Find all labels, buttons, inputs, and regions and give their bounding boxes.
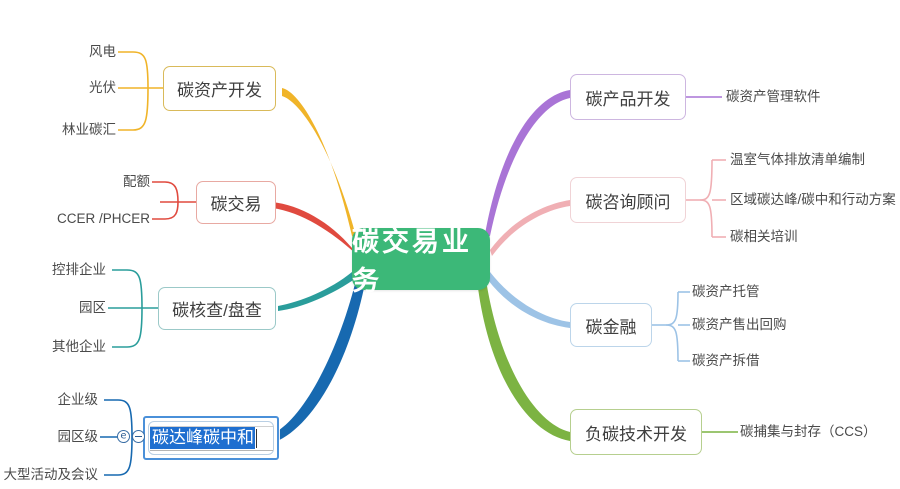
leaf-label-industrial-park[interactable]: 园区	[10, 301, 106, 315]
branch-node-carbon-verification[interactable]: 碳核查/盘查	[158, 287, 276, 330]
branch-label: 碳咨询顾问	[586, 188, 671, 213]
branch-label: 碳核查/盘查	[172, 296, 262, 321]
edge-main-carbon-finance	[488, 272, 570, 328]
leaf-label-carbon-asset-lending[interactable]: 碳资产拆借	[692, 354, 760, 368]
node-selected-text: 碳达峰碳中和	[150, 427, 255, 449]
edge-main-carbon-trading	[272, 202, 356, 254]
leaf-label-carbon-related-training[interactable]: 碳相关培训	[730, 230, 798, 244]
mindmap-canvas[interactable]: 碳交易业务 碳资产开发 碳交易 碳核查/盘查 e 碳达峰碳中和 碳产品开发 碳咨…	[0, 0, 900, 489]
edge-leaves-carbon-asset-development	[118, 52, 163, 130]
leaf-label-wind-power[interactable]: 风电	[18, 45, 116, 59]
branch-node-carbon-consulting[interactable]: 碳咨询顾问	[570, 177, 686, 223]
leaf-label-regional-peak-neutrality-plan[interactable]: 区域碳达峰/碳中和行动方案	[730, 193, 896, 207]
text-caret	[256, 429, 257, 448]
leaf-label-controlled-emission-enterprise[interactable]: 控排企业	[10, 263, 106, 277]
note-icon[interactable]: e	[117, 430, 130, 443]
node-edit-frame: 碳达峰碳中和	[148, 421, 274, 455]
branch-label: 碳金融	[586, 313, 637, 338]
collapse-icon[interactable]	[132, 430, 145, 443]
leaf-label-park-level[interactable]: 园区级	[0, 430, 98, 444]
edge-main-carbon-asset-development	[282, 88, 358, 244]
branch-label: 碳产品开发	[586, 85, 671, 110]
edge-main-carbon-peak-neutrality	[272, 280, 364, 443]
leaf-label-ccer-phcer[interactable]: CCER /PHCER	[40, 212, 150, 226]
leaf-label-carbon-asset-management-software[interactable]: 碳资产管理软件	[726, 90, 821, 104]
center-node[interactable]: 碳交易业务	[352, 228, 490, 290]
branch-node-carbon-finance[interactable]: 碳金融	[570, 303, 652, 347]
branch-label: 负碳技术开发	[585, 420, 687, 445]
leaf-label-ccs[interactable]: 碳捕集与封存（CCS）	[740, 425, 877, 439]
branch-node-carbon-product-development[interactable]: 碳产品开发	[570, 74, 686, 120]
branch-label: 碳资产开发	[177, 76, 262, 101]
branch-node-carbon-trading[interactable]: 碳交易	[196, 181, 276, 224]
leaf-label-other-enterprise[interactable]: 其他企业	[10, 340, 106, 354]
center-node-label: 碳交易业务	[352, 220, 490, 298]
edge-leaves-carbon-finance	[652, 292, 690, 361]
branch-node-carbon-asset-development[interactable]: 碳资产开发	[163, 66, 276, 111]
leaf-label-photovoltaic[interactable]: 光伏	[18, 81, 116, 95]
branch-node-negative-carbon-tech[interactable]: 负碳技术开发	[570, 409, 702, 455]
branch-label: 碳交易	[211, 190, 262, 215]
leaf-label-quota[interactable]: 配额	[40, 175, 150, 189]
edge-main-negative-carbon-tech	[478, 280, 570, 441]
node-toggles-carbon-peak-neutrality[interactable]: e	[117, 430, 145, 443]
node-text-input[interactable]: 碳达峰碳中和	[150, 426, 273, 451]
edge-main-carbon-verification	[278, 272, 356, 311]
leaf-label-carbon-asset-sale-repurchase[interactable]: 碳资产售出回购	[692, 318, 787, 332]
leaf-label-large-events-and-meetings[interactable]: 大型活动及会议	[0, 468, 98, 482]
leaf-label-carbon-asset-custody[interactable]: 碳资产托管	[692, 285, 760, 299]
edge-main-carbon-product-development	[484, 90, 570, 240]
edge-leaves-carbon-trading	[152, 182, 196, 219]
branch-node-carbon-peak-neutrality[interactable]: 碳达峰碳中和	[143, 416, 279, 460]
leaf-label-forestry-carbon-sink[interactable]: 林业碳汇	[18, 123, 116, 137]
edge-leaves-carbon-consulting	[686, 160, 726, 237]
edge-leaves-carbon-verification	[108, 270, 158, 347]
edge-main-carbon-consulting	[490, 200, 570, 256]
leaf-label-enterprise-level[interactable]: 企业级	[0, 393, 98, 407]
leaf-label-ghg-inventory-compilation[interactable]: 温室气体排放清单编制	[730, 153, 865, 167]
